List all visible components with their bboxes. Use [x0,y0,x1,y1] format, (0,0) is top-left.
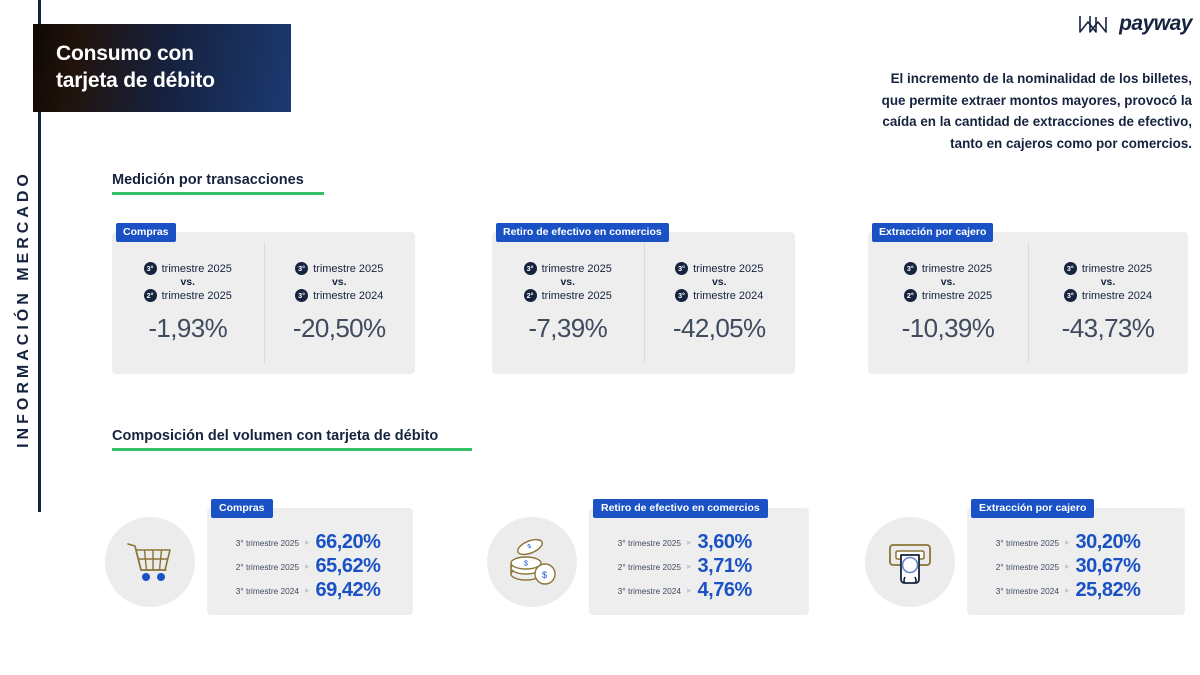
quarter-badge-icon: 2° [144,289,157,302]
composition-panel: Compras 3° trimestre 2025 ▸ 66,20% 2° tr… [207,508,413,615]
svg-text:$: $ [542,570,547,580]
composition-card-retiro-efectivo: $ $ $ Retiro de efectivo en comercios 3°… [487,508,809,615]
shopping-cart-icon [124,538,176,586]
atm-icon [883,537,937,587]
composition-row: 3° trimestre 2025 ▸ 30,20% [981,531,1171,554]
composition-row: 3° trimestre 2024 ▸ 69,42% [221,579,399,602]
quarter-label: trimestre 2024 [1082,290,1152,302]
composition-row-value: 4,76% [698,579,752,602]
composition-row-value: 30,67% [1076,555,1141,578]
quarter-badge-icon: 3° [295,289,308,302]
composition-row-value: 3,60% [698,531,752,554]
quarter-label: trimestre 2025 [162,290,232,302]
metric-card-compras: Compras 3° trimestre 2025 vs. 2° trimest… [112,232,415,374]
brand-name: payway [1119,12,1192,36]
metric-card-extraccion-cajero: Extracción por cajero 3° trimestre 2025 … [868,232,1188,374]
section-heading-transactions-label: Medición por transacciones [112,172,324,192]
chevron-right-icon: ▸ [687,538,692,547]
composition-row: 3° trimestre 2025 ▸ 66,20% [221,531,399,554]
composition-card-extraccion-cajero: Extracción por cajero 3° trimestre 2025 … [865,508,1185,615]
composition-row-value: 69,42% [316,579,381,602]
chevron-right-icon: ▸ [1065,562,1070,571]
section-heading-composition-label: Composición del volumen con tarjeta de d… [112,428,472,448]
quarter-badge-icon: 2° [524,289,537,302]
chevron-right-icon: ▸ [687,562,692,571]
composition-icon-circle [105,517,195,607]
chevron-right-icon: ▸ [687,586,692,595]
composition-row: 2° trimestre 2025 ▸ 30,67% [981,555,1171,578]
quarter-label: trimestre 2025 [542,290,612,302]
composition-row-label: 3° trimestre 2024 [603,586,681,596]
section-heading-underline [112,192,324,195]
quarter-badge-icon: 3° [1064,289,1077,302]
versus-label: vs. [332,276,347,288]
versus-label: vs. [1101,276,1116,288]
composition-row-value: 3,71% [698,555,752,578]
composition-row-value: 25,82% [1076,579,1141,602]
composition-row-label: 3° trimestre 2025 [221,538,299,548]
section-heading-underline [112,448,472,451]
composition-row: 3° trimestre 2025 ▸ 3,60% [603,531,795,554]
headline-line-2: que permite extraer montos mayores, prov… [882,93,1192,108]
chevron-right-icon: ▸ [305,586,310,595]
metric-value: -1,93% [148,313,227,344]
composition-row-label: 2° trimestre 2025 [603,562,681,572]
metric-half-qoq: 3° trimestre 2025 vs. 2° trimestre 2025 … [112,232,264,374]
quarter-badge-icon: 3° [675,289,688,302]
quarter-badge-icon: 3° [524,262,537,275]
metric-value: -43,73% [1062,313,1155,344]
versus-label: vs. [180,276,195,288]
quarter-label: trimestre 2025 [542,263,612,275]
chevron-right-icon: ▸ [1065,586,1070,595]
quarter-line-top: 3° trimestre 2025 [904,262,992,275]
page-title: Consumo con tarjeta de débito [33,41,215,95]
composition-row: 3° trimestre 2024 ▸ 4,76% [603,579,795,602]
quarter-badge-icon: 3° [904,262,917,275]
headline-line-1: El incremento de la nominalidad de los b… [891,71,1192,86]
metric-half-qoq: 3° trimestre 2025 vs. 2° trimestre 2025 … [868,232,1028,374]
quarter-label: trimestre 2025 [922,263,992,275]
quarter-badge-icon: 3° [295,262,308,275]
quarter-label: trimestre 2025 [313,263,383,275]
metric-half-yoy: 3° trimestre 2025 vs. 3° trimestre 2024 … [644,232,796,374]
composition-row-label: 3° trimestre 2025 [603,538,681,548]
headline-paragraph: El incremento de la nominalidad de los b… [827,68,1192,155]
composition-card-tag: Extracción por cajero [971,499,1094,518]
composition-icon-circle [865,517,955,607]
section-heading-transactions: Medición por transacciones [112,172,324,195]
chevron-right-icon: ▸ [305,538,310,547]
metric-half-qoq: 3° trimestre 2025 vs. 2° trimestre 2025 … [492,232,644,374]
quarter-line-bottom: 2° trimestre 2025 [524,289,612,302]
metric-value: -7,39% [528,313,607,344]
versus-label: vs. [941,276,956,288]
section-heading-composition: Composición del volumen con tarjeta de d… [112,428,472,451]
composition-row-label: 2° trimestre 2025 [221,562,299,572]
quarter-line-top: 3° trimestre 2025 [524,262,612,275]
metric-value: -42,05% [673,313,766,344]
composition-row-value: 30,20% [1076,531,1141,554]
svg-text:$: $ [524,560,528,567]
quarter-badge-icon: 2° [904,289,917,302]
composition-row: 2° trimestre 2025 ▸ 65,62% [221,555,399,578]
page-title-block: Consumo con tarjeta de débito [33,24,291,112]
rail-vertical-label: INFORMACIÓN MERCADO [15,94,33,524]
metric-half-yoy: 3° trimestre 2025 vs. 3° trimestre 2024 … [1028,232,1188,374]
metric-value: -10,39% [902,313,995,344]
page-title-line2: tarjeta de débito [56,69,215,92]
versus-label: vs. [560,276,575,288]
quarter-line-bottom: 3° trimestre 2024 [295,289,383,302]
composition-row: 3° trimestre 2024 ▸ 25,82% [981,579,1171,602]
chevron-right-icon: ▸ [305,562,310,571]
quarter-label: trimestre 2024 [693,290,763,302]
metric-half-yoy: 3° trimestre 2025 vs. 3° trimestre 2024 … [264,232,416,374]
composition-row-label: 2° trimestre 2025 [981,562,1059,572]
quarter-line-top: 3° trimestre 2025 [675,262,763,275]
composition-card-tag: Retiro de efectivo en comercios [593,499,768,518]
composition-row-value: 66,20% [316,531,381,554]
composition-row-label: 3° trimestre 2025 [981,538,1059,548]
quarter-label: trimestre 2025 [922,290,992,302]
page-title-line1: Consumo con [56,42,194,65]
quarter-label: trimestre 2024 [313,290,383,302]
quarter-badge-icon: 3° [144,262,157,275]
composition-row-label: 3° trimestre 2024 [221,586,299,596]
composition-row-label: 3° trimestre 2024 [981,586,1059,596]
composition-card-compras: Compras 3° trimestre 2025 ▸ 66,20% 2° tr… [105,508,413,615]
quarter-badge-icon: 3° [675,262,688,275]
composition-row: 2° trimestre 2025 ▸ 3,71% [603,555,795,578]
quarter-line-top: 3° trimestre 2025 [1064,262,1152,275]
composition-row-value: 65,62% [316,555,381,578]
composition-panel: Extracción por cajero 3° trimestre 2025 … [967,508,1185,615]
quarter-line-top: 3° trimestre 2025 [144,262,232,275]
composition-panel: Retiro de efectivo en comercios 3° trime… [589,508,809,615]
metric-card-retiro-efectivo: Retiro de efectivo en comercios 3° trime… [492,232,795,374]
quarter-label: trimestre 2025 [1082,263,1152,275]
composition-card-tag: Compras [211,499,273,518]
quarter-line-bottom: 2° trimestre 2025 [904,289,992,302]
quarter-label: trimestre 2025 [162,263,232,275]
headline-line-3: caída en la cantidad de extracciones de … [882,114,1192,129]
metric-value: -20,50% [293,313,386,344]
coins-stack-icon: $ $ $ [504,536,560,588]
versus-label: vs. [712,276,727,288]
brand-logo: payway [1078,12,1192,36]
quarter-line-bottom: 3° trimestre 2024 [1064,289,1152,302]
quarter-badge-icon: 3° [1064,262,1077,275]
quarter-line-bottom: 3° trimestre 2024 [675,289,763,302]
composition-icon-circle: $ $ $ [487,517,577,607]
chevron-right-icon: ▸ [1065,538,1070,547]
payway-logo-mark-icon [1078,12,1112,36]
quarter-line-bottom: 2° trimestre 2025 [144,289,232,302]
headline-line-4: tanto en cajeros como por comercios. [950,136,1192,151]
quarter-label: trimestre 2025 [693,263,763,275]
quarter-line-top: 3° trimestre 2025 [295,262,383,275]
